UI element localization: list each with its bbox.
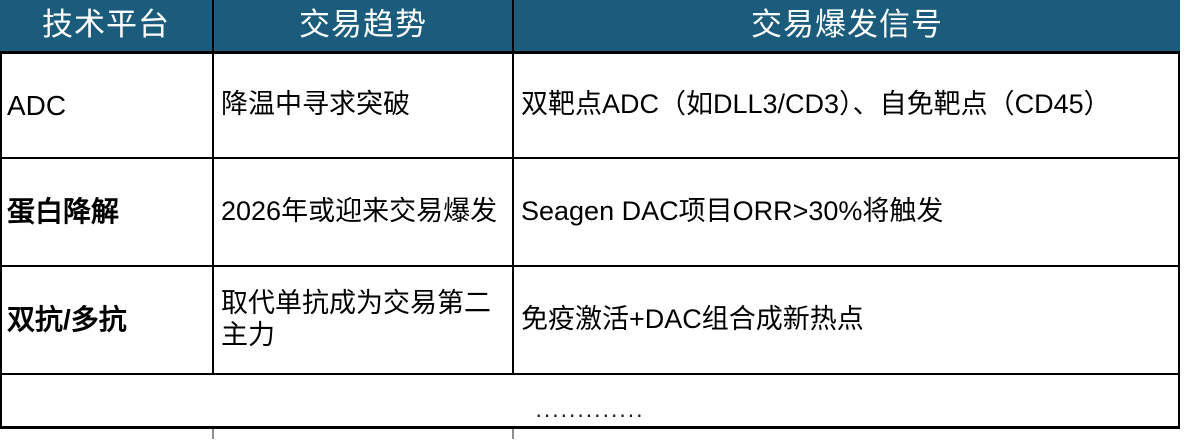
table-left-border — [0, 52, 2, 428]
cell-platform: 蛋白降解 — [0, 158, 213, 266]
table-row: 双抗/多抗 取代单抗成为交易第二主力 免疫激活+DAC组合成新热点 — [0, 266, 1180, 374]
cell-trend: 2026年或迎来交易爆发 — [213, 158, 513, 266]
column-header-signal: 交易爆发信号 — [513, 0, 1180, 52]
stub-cell-signal — [513, 427, 1180, 439]
cell-trend: 取代单抗成为交易第二主力 — [213, 266, 513, 374]
cell-platform: ADC — [0, 52, 213, 158]
column-header-trend: 交易趋势 — [213, 0, 513, 52]
stub-cell-trend — [213, 427, 513, 439]
table-row: 蛋白降解 2026年或迎来交易爆发 Seagen DAC项目ORR>30%将触发 — [0, 158, 1180, 266]
table-next-row-stub — [0, 427, 1180, 439]
table-header: 技术平台 交易趋势 交易爆发信号 — [0, 0, 1180, 52]
trading-signal-table: 技术平台 交易趋势 交易爆发信号 ADC 降温中寻求突破 双靶点ADC（如DLL… — [0, 0, 1180, 439]
cell-signal: 双靶点ADC（如DLL3/CD3）、自免靶点（CD45） — [513, 52, 1180, 158]
column-header-platform: 技术平台 — [0, 0, 213, 52]
signal-table-container: 技术平台 交易趋势 交易爆发信号 ADC 降温中寻求突破 双靶点ADC（如DLL… — [0, 0, 1190, 440]
header-row: 技术平台 交易趋势 交易爆发信号 — [0, 0, 1180, 52]
table-continuation-row: ............. — [0, 374, 1180, 427]
cell-signal: 免疫激活+DAC组合成新热点 — [513, 266, 1180, 374]
continuation-ellipsis: ............. — [0, 374, 1180, 427]
cell-signal: Seagen DAC项目ORR>30%将触发 — [513, 158, 1180, 266]
stub-cell-platform — [0, 427, 213, 439]
table-right-border — [1178, 52, 1180, 428]
table-row: ADC 降温中寻求突破 双靶点ADC（如DLL3/CD3）、自免靶点（CD45） — [0, 52, 1180, 158]
cell-platform: 双抗/多抗 — [0, 266, 213, 374]
table-body: ADC 降温中寻求突破 双靶点ADC（如DLL3/CD3）、自免靶点（CD45）… — [0, 52, 1180, 439]
cell-trend: 降温中寻求突破 — [213, 52, 513, 158]
